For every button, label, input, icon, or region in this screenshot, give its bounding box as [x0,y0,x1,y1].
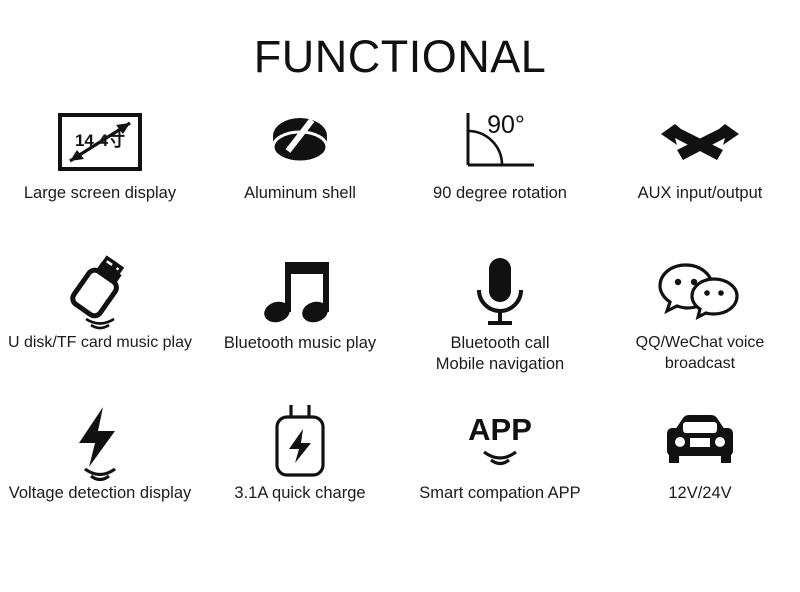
feature-label: Bluetooth music play [224,333,376,354]
feature-label: 12V/24V [668,483,731,504]
feature-item-large-screen-display: 14.4寸 Large screen display [0,101,200,251]
angle-value-text: 90° [487,111,525,139]
feature-item-aluminum-shell: Aluminum shell [200,101,400,251]
feature-item-u-disk-tf-card: U disk/TF card music play [0,251,200,401]
feature-label: QQ/WeChat voice broadcast [604,333,796,375]
app-text: APP [468,412,532,447]
functional-features-page: FUNCTIONAL 14.4寸 Large screen display [0,0,800,592]
feature-item-aux-input-output: AUX input/output [600,101,800,251]
wall-charger-icon [269,401,331,483]
feature-label: U disk/TF card music play [8,333,192,354]
feature-label: Large screen display [24,183,176,204]
page-title: FUNCTIONAL [0,0,800,79]
angle-90-icon: 90° [454,101,546,183]
crossing-arrows-icon [655,101,745,183]
feature-label: Voltage detection display [9,483,192,504]
feature-label: Aluminum shell [244,183,356,204]
music-note-icon [263,251,337,333]
wechat-icon [656,251,744,333]
usb-flash-drive-icon [60,251,140,333]
screen-size-text: 14.4寸 [75,130,125,150]
feature-item-smart-app: APP Smart compation APP [400,401,600,551]
feature-label: 90 degree rotation [433,183,567,204]
feature-item-90-degree-rotation: 90° 90 degree rotation [400,101,600,251]
microphone-icon [469,251,531,333]
feature-label: Smart compation APP [419,483,580,504]
feature-label: AUX input/output [638,183,763,204]
feature-item-bluetooth-music-play: Bluetooth music play [200,251,400,401]
feature-label: Bluetooth call Mobile navigation [436,333,564,376]
feature-label: 3.1A quick charge [234,483,365,504]
car-front-icon [657,401,743,483]
aluminum-shell-icon [263,101,337,183]
lightning-waves-icon [65,401,135,483]
feature-item-bluetooth-call: Bluetooth call Mobile navigation [400,251,600,401]
feature-grid: 14.4寸 Large screen display Aluminum shel… [0,101,800,551]
screen-size-icon: 14.4寸 [48,101,152,183]
app-waves-icon: APP [458,401,542,483]
feature-item-voltage-range: 12V/24V [600,401,800,551]
feature-item-qq-wechat-broadcast: QQ/WeChat voice broadcast [600,251,800,401]
feature-item-voltage-detection: Voltage detection display [0,401,200,551]
feature-item-quick-charge: 3.1A quick charge [200,401,400,551]
